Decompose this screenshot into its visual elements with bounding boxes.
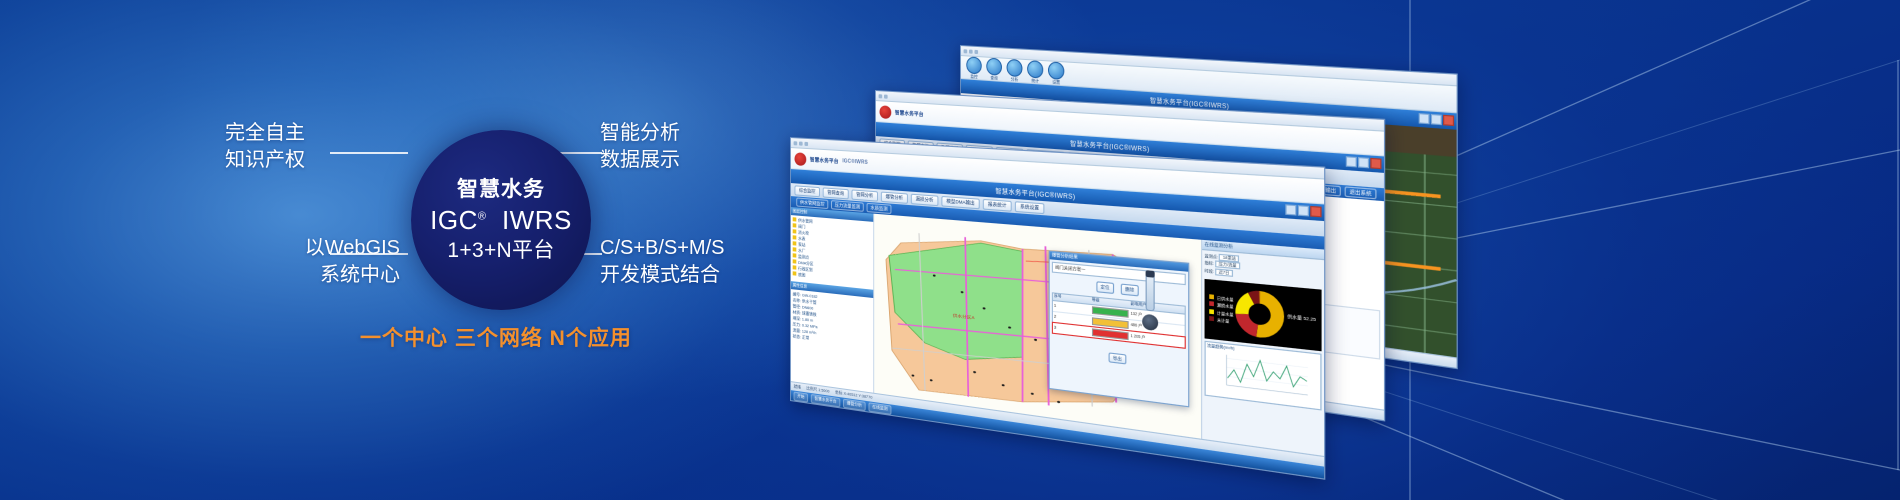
screenshot-window-front[interactable]: 智慧水务平台 IGC®IWRS 智慧水务平台(IGC®IWRS) 综合监控 管网… [790, 137, 1325, 480]
zoom-slider[interactable] [1145, 271, 1154, 312]
layer-swatch-icon [793, 217, 797, 221]
analysis-icon[interactable] [1007, 58, 1023, 76]
chart-icon[interactable] [1027, 60, 1043, 78]
layer-swatch-icon [793, 247, 797, 251]
monitor-icon[interactable] [966, 56, 981, 74]
layer-swatch-icon [793, 229, 797, 233]
toolbar-dot-icon [884, 94, 888, 98]
monitoring-panel[interactable]: 在线监测分析 监测点: 1#泵站 指标: 压力/流量 时段: 近7日 [1201, 240, 1324, 456]
attr-key-2: 管径 [793, 303, 800, 309]
monitor-field-val-2[interactable]: 近7日 [1215, 268, 1233, 276]
registered-mark-icon: ® [478, 211, 487, 223]
maximize-icon[interactable] [1358, 157, 1369, 168]
donut-legend-1: 漏损水量 [1217, 303, 1234, 309]
close-icon[interactable] [1310, 206, 1321, 217]
layer-label-3: 水表 [798, 236, 805, 242]
donut-legend-2: 计量水量 [1217, 311, 1234, 317]
brand-text-front: 智慧水务平台 [810, 156, 839, 165]
monitor-field-key-2: 时段 [1205, 268, 1213, 273]
dialog-export-button[interactable]: 导出 [1108, 352, 1126, 364]
nav-item-6[interactable]: 报表统计 [983, 198, 1012, 211]
window-title-middle: 智慧水务平台(IGC®IWRS) [1070, 138, 1149, 153]
close-icon[interactable] [1443, 115, 1454, 126]
taskbar-item-2[interactable]: 爆管分析 [843, 398, 866, 410]
toolbar-dot-icon [799, 141, 803, 145]
nav-item-5[interactable]: 模型DMA输出 [941, 195, 979, 208]
level-swatch-icon [1092, 328, 1128, 340]
connector-line-top-right [560, 152, 602, 154]
donut-center-label: 供水量 52.25 [1287, 313, 1316, 323]
maximize-icon[interactable] [1431, 114, 1442, 125]
badge-product-igc: IGC [430, 205, 478, 235]
toolbar-dot-icon [794, 141, 798, 145]
layer-swatch-icon [793, 259, 797, 263]
donut-legend: 已供水量 漏损水量 计量水量 未计量 [1210, 294, 1234, 327]
attribute-table: 编号: GW-0182 名称: 供水干管 管径: DN600 材质: 球墨铸铁 … [793, 291, 872, 349]
connector-line-top-left [330, 152, 408, 154]
toolbar-dot-icon [804, 141, 808, 145]
badge-product-name: IGC® IWRS [430, 206, 572, 235]
panes-front: 图层控制 供水管网 阀门 消火栓 水表 泵站 水厂 监测点 DMA分区 行政区划… [791, 207, 1324, 456]
connector-line-bottom-left [330, 253, 408, 255]
attr-key-4: 埋深 [793, 315, 800, 321]
dialog-locate-button[interactable]: 定位 [1096, 281, 1114, 294]
attr-key-6: 流量 [793, 327, 800, 333]
attr-key-0: 编号 [793, 291, 800, 297]
legend-swatch-icon [1210, 317, 1215, 322]
zoom-slider-handle[interactable] [1145, 271, 1154, 279]
attr-key-5: 压力 [793, 321, 800, 327]
pan-compass-icon[interactable] [1142, 314, 1158, 331]
layer-label-9: 底图 [798, 272, 805, 278]
concept-label-bottom-left: 以WebGIS 系统中心 [175, 235, 400, 289]
layer-swatch-icon [793, 223, 797, 227]
attr-val-7: 正常 [802, 334, 809, 340]
badge-title: 智慧水务 [457, 178, 545, 202]
attr-key-3: 材质 [793, 309, 800, 315]
layer-label-1: 阀门 [798, 224, 805, 230]
gear-icon[interactable] [1048, 61, 1064, 80]
banner-stage: 完全自主 知识产权 智能分析 数据展示 以WebGIS 系统中心 C/S+B/S… [0, 0, 1900, 500]
layer-swatch-icon [793, 241, 797, 245]
layer-swatch-icon [793, 265, 797, 269]
search-icon[interactable] [986, 57, 1002, 75]
ribbon-label-1: 查询 [990, 75, 997, 82]
dialog-row-1-no: 2 [1053, 315, 1091, 323]
company-logo-icon [880, 105, 892, 119]
window-body-front: 图层控制 供水管网 阀门 消火栓 水表 泵站 水厂 监测点 DMA分区 行政区划… [791, 207, 1324, 456]
concept-label-top-right-line2: 数据展示 [600, 147, 800, 174]
burst-analysis-dialog[interactable]: 爆管分析结果 阀门关闭方案一 定位 删除 序号 [1049, 250, 1189, 407]
maximize-icon[interactable] [1298, 205, 1309, 216]
layer-label-6: 监测点 [798, 254, 809, 260]
minimize-icon[interactable] [1285, 204, 1296, 215]
status-text-0: 就绪 [794, 384, 801, 391]
layer-list[interactable]: 供水管网 阀门 消火栓 水表 泵站 水厂 监测点 DMA分区 行政区划 底图 [793, 217, 872, 285]
badge-platform: 1+3+N平台 [447, 239, 554, 263]
window-title-front: 智慧水务平台(IGC®IWRS) [995, 185, 1075, 200]
toolbar-dot-icon [879, 94, 883, 98]
ribbon-label-0: 监控 [970, 73, 977, 80]
nav-item-0[interactable]: 综合监控 [795, 185, 820, 197]
layer-swatch-icon [793, 253, 797, 257]
screenshot-stack: 监控 查询 分析 统计 设置 [790, 45, 1490, 385]
nav-item-2[interactable]: 管网分析 [852, 189, 878, 201]
concept-label-top-left: 完全自主 知识产权 [175, 120, 305, 174]
window-controls-middle[interactable] [1346, 156, 1382, 169]
dialog-row-2-no: 3 [1053, 326, 1091, 335]
toolbar-dot-icon [964, 49, 968, 53]
nav-item-1[interactable]: 管网查询 [823, 187, 849, 199]
concept-label-bottom-left-line2: 系统中心 [175, 262, 400, 289]
layer-swatch-icon [793, 271, 797, 275]
concept-label-top-right-line1: 智能分析 [600, 120, 800, 147]
donut-chart [1236, 289, 1285, 340]
layer-swatch-icon [793, 235, 797, 239]
layer-label-2: 消火栓 [798, 230, 809, 236]
attr-key-1: 名称 [793, 297, 800, 303]
company-logo-icon [795, 152, 807, 166]
close-icon[interactable] [1370, 158, 1381, 169]
ribbon-label-2: 分析 [1011, 76, 1018, 83]
subnav-item-2[interactable]: 水质监测 [867, 203, 892, 214]
window-controls-back[interactable] [1419, 113, 1454, 126]
legend-swatch-icon [1210, 302, 1215, 307]
legend-swatch-icon [1210, 309, 1215, 314]
concept-graphic: 完全自主 知识产权 智能分析 数据展示 以WebGIS 系统中心 C/S+B/S… [0, 0, 800, 500]
layer-label-4: 泵站 [798, 242, 805, 248]
brand-text-middle: 智慧水务平台 [895, 109, 924, 118]
minimize-icon[interactable] [1346, 156, 1357, 167]
map-navigation-control[interactable] [1142, 270, 1158, 331]
concept-label-top-left-line2: 知识产权 [175, 147, 305, 174]
trend-chart-panel: 流量趋势(m³/h) [1205, 341, 1322, 411]
center-circle-badge: 智慧水务 IGC® IWRS 1+3+N平台 [411, 130, 591, 310]
toolbar-dot-icon [969, 49, 973, 53]
donut-chart-panel: 已供水量 漏损水量 计量水量 未计量 [1205, 279, 1322, 351]
concept-label-bottom-left-line1: 以WebGIS [175, 235, 400, 262]
taskbar-item-3[interactable]: 在线监测 [868, 402, 891, 415]
concept-label-top-left-line1: 完全自主 [175, 120, 305, 147]
minimize-icon[interactable] [1419, 113, 1430, 124]
tagline: 一个中心 三个网络 N个应用 [360, 322, 632, 352]
ribbon-label-4: 设置 [1052, 79, 1060, 86]
brand-sub-front: IGC®IWRS [842, 158, 868, 166]
concept-label-top-right: 智能分析 数据展示 [600, 120, 800, 174]
layer-label-5: 水厂 [798, 248, 805, 254]
nav-item-3[interactable]: 爆管分析 [881, 191, 908, 203]
layer-panel[interactable]: 图层控制 供水管网 阀门 消火栓 水表 泵站 水厂 监测点 DMA分区 行政区划… [791, 207, 874, 393]
legend-swatch-icon [1210, 294, 1215, 299]
badge-product-iwrs: IWRS [502, 205, 572, 235]
toolbar-dot-icon [974, 49, 978, 53]
monitor-field-key-1: 指标 [1205, 261, 1213, 266]
nav-item-4[interactable]: 漏损分析 [911, 193, 939, 205]
taskbar-start-button[interactable]: 开始 [794, 391, 808, 402]
dialog-delete-button[interactable]: 删除 [1121, 283, 1139, 296]
window-controls-front[interactable] [1285, 204, 1321, 217]
dialog-row-0-no: 1 [1053, 304, 1091, 312]
donut-legend-0: 已供水量 [1217, 296, 1234, 302]
donut-legend-3: 未计量 [1217, 319, 1230, 325]
monitor-field-key-0: 监测点 [1205, 254, 1217, 260]
nav-item-7[interactable]: 系统设置 [1015, 201, 1045, 214]
ribbon-label-3: 统计 [1031, 77, 1039, 84]
attr-key-7: 状态 [793, 333, 800, 339]
